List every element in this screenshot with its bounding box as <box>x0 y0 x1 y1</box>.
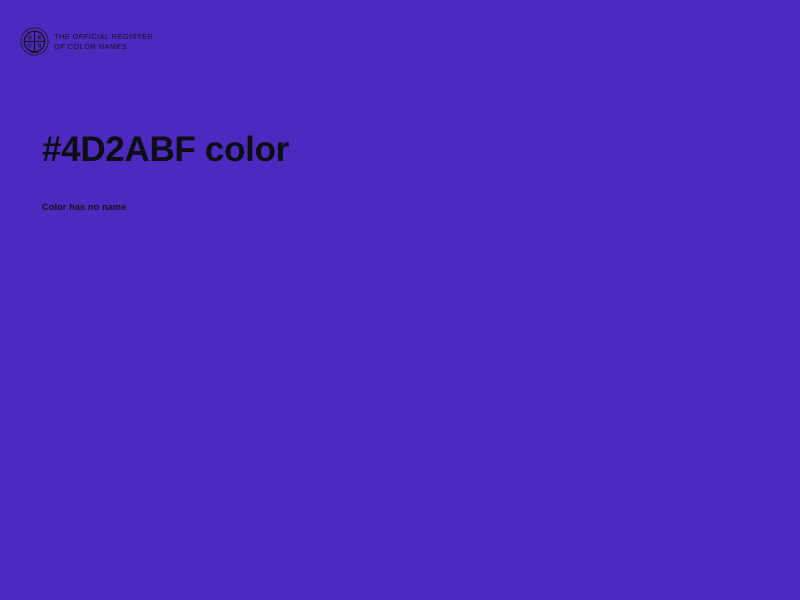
page-title: #4D2ABF color <box>42 126 742 174</box>
svg-text:N: N <box>37 43 41 49</box>
color-info: #4D2ABF color Color has no name <box>42 126 742 214</box>
brand-wordmark-line-2: OF COLOR NAMES <box>54 42 153 53</box>
svg-text:C: C <box>28 43 32 49</box>
brand-wordmark-line-1: THE OFFICIAL REGISTER <box>54 32 153 43</box>
register-seal-icon: O R C N <box>20 27 49 56</box>
brand-wordmark: THE OFFICIAL REGISTER OF COLOR NAMES <box>54 31 153 53</box>
color-name-status: Color has no name <box>42 174 742 214</box>
color-page: O R C N THE OFFICIAL REGISTER OF COLOR N… <box>0 0 800 600</box>
color-swatch-background <box>0 0 800 600</box>
svg-text:R: R <box>37 35 41 41</box>
svg-text:O: O <box>28 35 32 41</box>
brand-logo[interactable]: O R C N THE OFFICIAL REGISTER OF COLOR N… <box>20 27 153 56</box>
